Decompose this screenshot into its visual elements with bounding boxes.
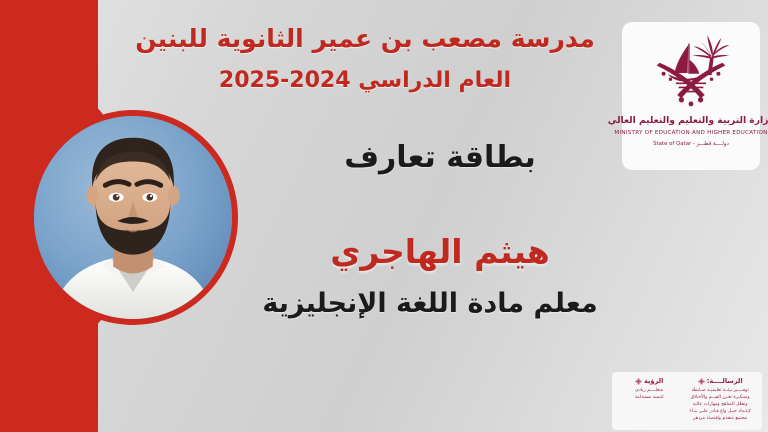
school-title: مدرسة مصعب بن عمير الثانوية للبنين — [120, 24, 610, 53]
id-card: مدرسة مصعب بن عمير الثانوية للبنين العام… — [0, 0, 768, 432]
mission-heading-row: الرسالــــة: — [698, 377, 743, 385]
person-role: معلم مادة اللغة الإنجليزية — [230, 288, 630, 319]
flower-icon — [635, 378, 642, 385]
vision-mission-card: الرسالــــة: توفــــير بيئــة تعليميـة ض… — [612, 372, 762, 430]
vision-heading-row: الرؤية — [635, 377, 663, 385]
teacher-portrait-icon — [34, 116, 232, 319]
vision-body: متعلــــم ريادي لتنمية مستدامة — [635, 388, 664, 402]
mission-line: وتفعّل المناهج ومهارات عالية — [690, 402, 751, 409]
vision-line: لتنمية مستدامة — [635, 395, 664, 402]
mission-line: لإعـداد جيـل واعٍ قـادر علـى بنـاء — [690, 409, 751, 416]
mission-column: الرسالــــة: توفــــير بيئــة تعليميـة ض… — [682, 377, 758, 426]
person-name: هيثم الهاجري — [250, 232, 630, 271]
ministry-name-english: MINISTRY OF EDUCATION AND HIGHER EDUCATI… — [614, 130, 767, 136]
ministry-name-arabic: وزارة التربية والتعليم والتعليم العالي — [608, 115, 768, 126]
vision-heading: الرؤية — [644, 377, 663, 385]
flower-icon — [698, 378, 705, 385]
qatar-emblem-icon — [649, 34, 733, 108]
mission-body: توفــــير بيئــة تعليميـة ضـابطة ومبتكـر… — [690, 388, 751, 422]
avatar — [34, 116, 232, 319]
school-year: العام الدراسي 2024-2025 — [120, 68, 610, 93]
mission-line: توفــــير بيئــة تعليميـة ضـابطة — [690, 388, 751, 395]
ministry-state-line: دولــــة قطـــر - State of Qatar — [653, 141, 729, 147]
ministry-logo-card: وزارة التربية والتعليم والتعليم العالي M… — [622, 22, 760, 170]
mission-line: مجتمع متقدم واقتصاد مزدهر — [690, 416, 751, 423]
mission-heading: الرسالــــة: — [707, 377, 743, 385]
vision-column: الرؤية متعلــــم ريادي لتنمية مستدامة — [616, 377, 682, 426]
card-kind-title: بطاقة تعارف — [250, 140, 630, 175]
mission-line: ومبتكـرة تعـزز القيــم والأخـلاق — [690, 395, 751, 402]
vision-line: متعلــــم ريادي — [635, 388, 664, 395]
